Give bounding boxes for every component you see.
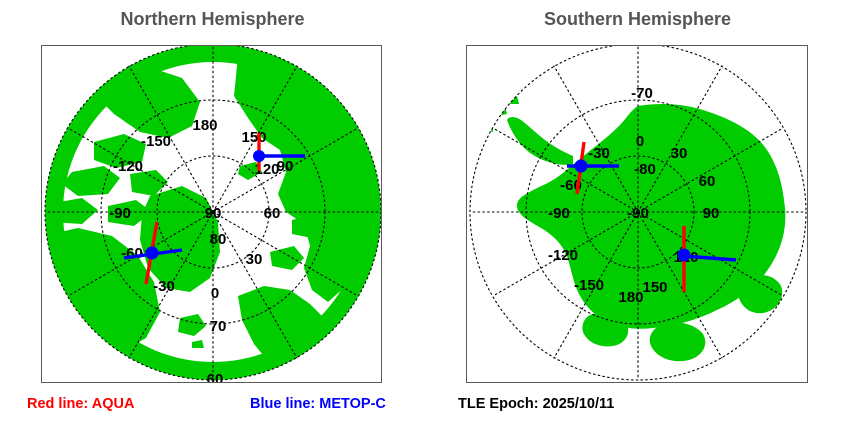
svg-text:180: 180 xyxy=(192,117,217,134)
svg-text:-30: -30 xyxy=(153,278,175,295)
svg-text:70: 70 xyxy=(210,318,227,335)
svg-text:90: 90 xyxy=(205,205,222,222)
satellite-dot xyxy=(253,150,265,162)
svg-text:-90: -90 xyxy=(548,205,570,222)
svg-text:-150: -150 xyxy=(574,277,604,294)
legend: Red line: AQUA Blue line: METOP-C TLE Ep… xyxy=(0,396,850,420)
panel-northern-hemisphere: Northern Hemisphere xyxy=(0,0,425,390)
svg-text:30: 30 xyxy=(671,145,688,162)
satellite-dot xyxy=(678,249,691,262)
svg-text:-90: -90 xyxy=(109,205,131,222)
southern-hemisphere-map: 0 30 60 90 120 150 180 -150 -120 -90 -60… xyxy=(467,46,807,383)
legend-tle-epoch: TLE Epoch: 2025/10/11 xyxy=(458,396,614,412)
legend-blue-line: Blue line: METOP-C xyxy=(250,396,386,412)
svg-text:-120: -120 xyxy=(548,247,578,264)
svg-text:-150: -150 xyxy=(141,133,171,150)
svg-text:150: 150 xyxy=(241,129,266,146)
svg-text:150: 150 xyxy=(642,279,667,296)
southern-hemisphere-plot[interactable]: 0 30 60 90 120 150 180 -150 -120 -90 -60… xyxy=(466,45,808,383)
svg-text:0: 0 xyxy=(636,133,644,150)
svg-text:-90: -90 xyxy=(627,205,649,222)
svg-text:30: 30 xyxy=(246,251,263,268)
svg-text:0: 0 xyxy=(211,285,219,302)
northern-hemisphere-plot[interactable]: 180 -150 -120 -90 -60 -30 0 30 60 90 120… xyxy=(41,45,382,383)
svg-text:60: 60 xyxy=(207,371,224,383)
svg-text:60: 60 xyxy=(699,173,716,190)
northern-hemisphere-map: 180 -150 -120 -90 -60 -30 0 30 60 90 120… xyxy=(42,46,382,383)
svg-text:60: 60 xyxy=(264,205,281,222)
northern-hemisphere-title: Northern Hemisphere xyxy=(0,9,425,30)
svg-text:-30: -30 xyxy=(588,145,610,162)
svg-text:80: 80 xyxy=(210,231,227,248)
satellite-dot xyxy=(146,247,159,260)
satellite-dot xyxy=(575,160,588,173)
svg-text:-120: -120 xyxy=(113,158,143,175)
svg-text:90: 90 xyxy=(703,205,720,222)
svg-text:180: 180 xyxy=(618,289,643,306)
svg-text:-60: -60 xyxy=(629,46,651,48)
svg-text:-70: -70 xyxy=(631,85,653,102)
southern-hemisphere-title: Southern Hemisphere xyxy=(425,9,850,30)
panel-southern-hemisphere: Southern Hemisphere xyxy=(425,0,850,390)
svg-text:-80: -80 xyxy=(634,161,656,178)
legend-red-line: Red line: AQUA xyxy=(27,396,134,412)
